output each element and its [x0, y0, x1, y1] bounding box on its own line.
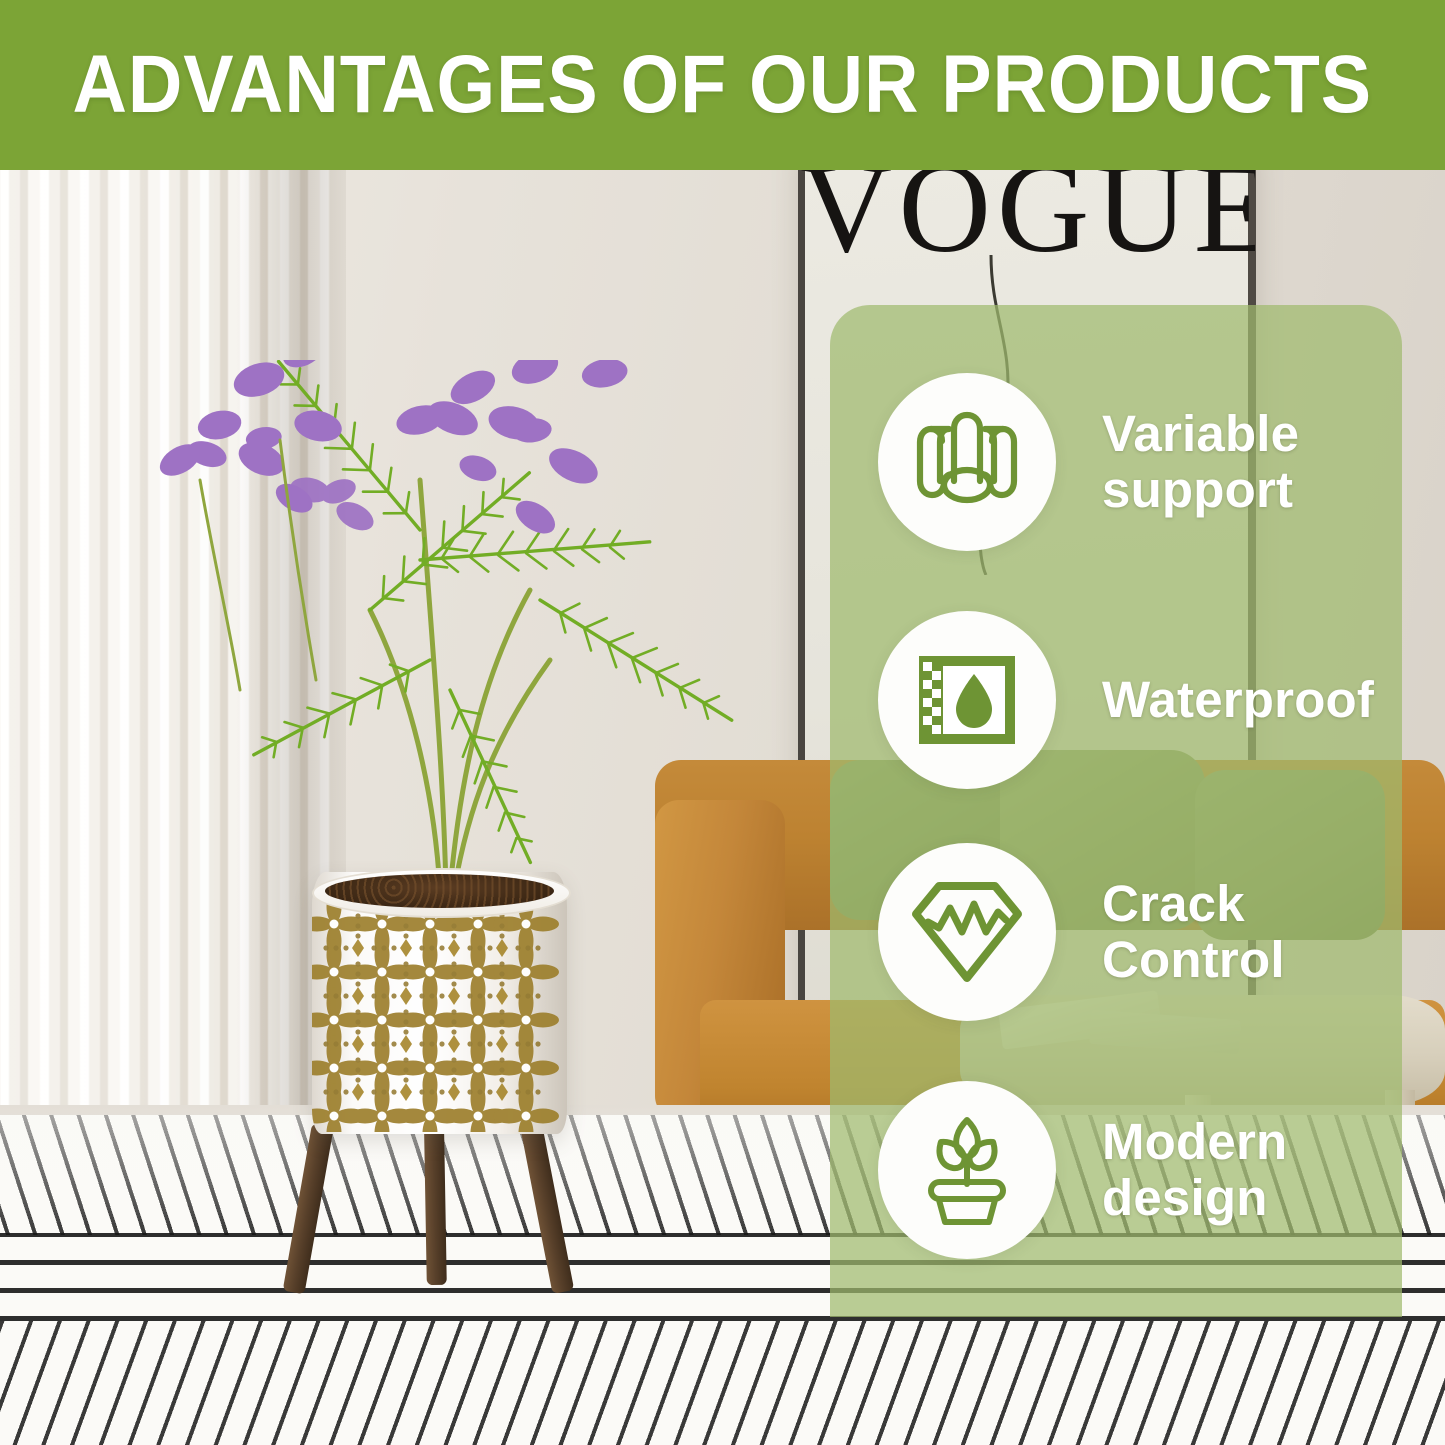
feature-variable-support[interactable]: Variable support — [878, 373, 1299, 551]
feature-label-variable-support: Variable support — [1102, 406, 1299, 518]
badge-circle-modern-design — [878, 1081, 1056, 1259]
feature-crack-control[interactable]: Crack Control — [878, 843, 1285, 1021]
rolled-mats-icon — [908, 407, 1026, 517]
feature-label-crack-control: Crack Control — [1102, 876, 1285, 988]
feature-waterproof[interactable]: Waterproof — [878, 611, 1374, 789]
waterproof-droplet-icon — [911, 646, 1023, 754]
fern-plant-with-flowers — [120, 360, 780, 900]
product-feature-image: VOGUE — [0, 0, 1445, 1445]
badge-circle-waterproof — [878, 611, 1056, 789]
feature-modern-design[interactable]: Modern design — [878, 1081, 1287, 1259]
pot-soil-texture — [325, 874, 554, 908]
header-banner: ADVANTAGES OF OUR PRODUCTS — [0, 0, 1445, 170]
diamond-crack-icon — [908, 876, 1026, 988]
badge-circle-crack-control — [878, 843, 1056, 1021]
feature-label-modern-design: Modern design — [1102, 1114, 1287, 1226]
feature-label-waterproof: Waterproof — [1102, 672, 1374, 728]
banner-title: ADVANTAGES OF OUR PRODUCTS — [73, 42, 1372, 128]
plant-stand-leg-center — [424, 1125, 447, 1285]
pot-floral-lattice-pattern — [312, 902, 567, 1132]
badge-circle-variable-support — [878, 373, 1056, 551]
potted-plant-icon — [911, 1112, 1023, 1228]
